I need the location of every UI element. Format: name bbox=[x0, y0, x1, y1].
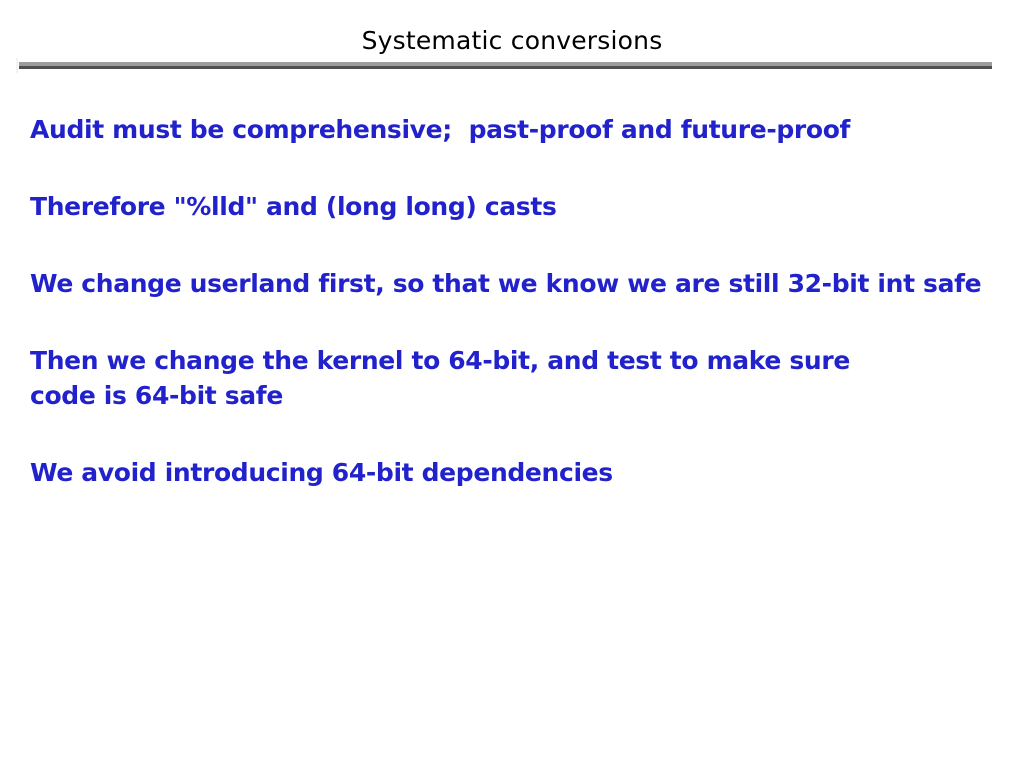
body-line: We change userland first, so that we kno… bbox=[30, 266, 1005, 301]
body-line: We avoid introducing 64-bit dependencies bbox=[30, 455, 1005, 490]
slide-body: Audit must be comprehensive; past-proof … bbox=[30, 112, 1005, 490]
body-line: Audit must be comprehensive; past-proof … bbox=[30, 112, 1005, 147]
divider-shadow bbox=[19, 66, 992, 69]
divider-tick bbox=[16, 58, 18, 73]
body-paragraph-therefore: Therefore "%lld" and (long long) casts bbox=[30, 189, 1005, 224]
body-line: Therefore "%lld" and (long long) casts bbox=[30, 189, 1005, 224]
body-line: code is 64-bit safe bbox=[30, 378, 1005, 413]
body-paragraph-audit: Audit must be comprehensive; past-proof … bbox=[30, 112, 1005, 147]
slide-canvas: Systematic conversions Audit must be com… bbox=[0, 0, 1024, 768]
body-paragraph-kernel-64bit: Then we change the kernel to 64-bit, and… bbox=[30, 343, 1005, 413]
title-divider bbox=[19, 62, 992, 69]
body-line: Then we change the kernel to 64-bit, and… bbox=[30, 343, 1005, 378]
body-paragraph-avoid-deps: We avoid introducing 64-bit dependencies bbox=[30, 455, 1005, 490]
body-paragraph-userland-first: We change userland first, so that we kno… bbox=[30, 266, 1005, 301]
page-title: Systematic conversions bbox=[0, 26, 1024, 56]
